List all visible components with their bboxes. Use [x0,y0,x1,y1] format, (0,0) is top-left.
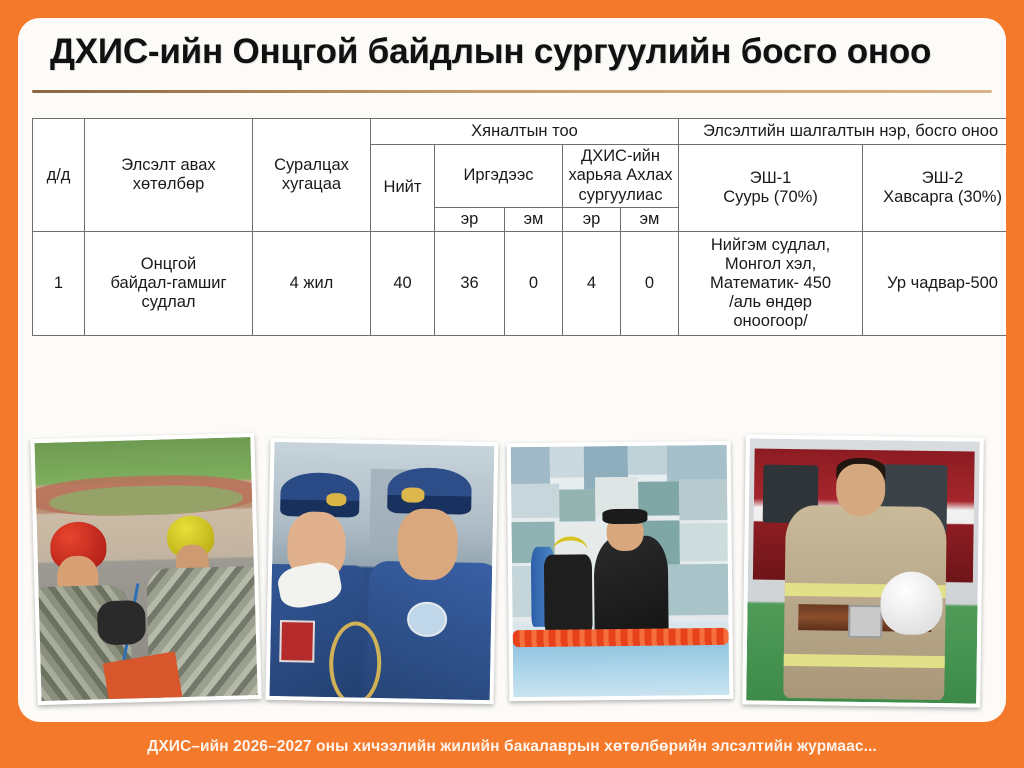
tile [511,447,550,485]
photo-2-illustration [270,442,495,700]
buoyancy-vest [544,554,592,637]
photo-diver-pool [507,441,734,701]
belt-buckle [848,605,882,638]
photo-4-illustration [746,438,980,703]
diving-mask [602,508,648,523]
header-total: Нийт [371,144,435,232]
officer-cap-left [280,473,360,518]
cell-citizens-female: 0 [505,232,563,336]
white-helmet [881,571,944,635]
cell-index: 1 [33,232,85,336]
header-exam-2: ЭШ-2 Хавсарга (30%) [863,144,1006,232]
cell-exam-1-line3: Математик- 450 [682,274,859,293]
cell-dhis-male: 4 [563,232,621,336]
cell-exam-1-line1: Нийгэм судлал, [682,236,859,255]
header-dhis-female: эм [621,208,679,232]
photo-1-illustration [34,437,257,701]
header-duration: Суралцах хугацаа [253,119,371,232]
black-glove [97,600,146,645]
officer-cap-right [388,467,472,514]
title-divider [32,90,992,93]
table-row: 1 Онцгой байдал-гамшиг судлал 4 жил 40 3… [33,232,1007,336]
cell-exam-1: Нийгэм судлал, Монгол хэл, Математик- 45… [679,232,863,336]
footer-band: ДХИС–ийн 2026–2027 оны хичээлийн жилийн … [0,726,1024,768]
header-exam-2-line1: ЭШ-2 [866,169,1006,188]
cap-badge-right [401,487,425,502]
header-exam-group: Элсэлтийн шалгалтын нэр, босго оноо [679,119,1006,145]
header-control-count: Хяналтын тоо [371,119,679,145]
cell-program: Онцгой байдал-гамшиг судлал [85,232,253,336]
photo-3-illustration [511,445,730,697]
photo-firefighter [742,434,984,707]
footer-text: ДХИС–ийн 2026–2027 оны хичээлийн жилийн … [147,738,877,756]
header-from-dhis: ДХИС-ийн харьяа Ахлах сургуулиас [563,144,679,207]
header-exam-1-line2: Суурь (70%) [682,188,859,207]
tile [559,489,596,522]
cell-dhis-female: 0 [621,232,679,336]
header-index: д/д [33,119,85,232]
cell-citizens-male: 36 [435,232,505,336]
cell-exam-1-line5: оноогоор/ [682,312,859,331]
shoulder-patch [407,602,447,637]
tile [663,564,728,616]
table-header-row-1: д/д Элсэлт авах хөтөлбөр Суралцах хугаца… [33,119,1007,145]
reflective-stripe-lower [783,654,944,668]
header-from-citizens: Иргэдээс [435,144,563,207]
cell-exam-2: Ур чадвар-500 [863,232,1006,336]
photo-3-inner [511,445,730,697]
header-dhis-male: эр [563,208,621,232]
tile [627,446,666,475]
cell-total: 40 [371,232,435,336]
tile [666,445,727,481]
header-exam-2-line2: Хавсарга (30%) [866,188,1006,207]
photo-2-inner [270,442,495,700]
slide-root: ДХИС-ийн Онцгой байдлын сургуулийн босго… [0,0,1024,768]
header-citizens-male: эр [435,208,505,232]
photo-officer-ceremony [266,438,499,704]
cell-exam-1-line4: /аль өндөр [682,293,859,312]
cell-program-line1: Онцгой [88,255,249,274]
header-exam-1: ЭШ-1 Суурь (70%) [679,144,863,232]
red-emblem-patch [279,620,315,663]
header-citizens-female: эм [505,208,563,232]
tile [511,484,559,518]
cell-exam-1-line2: Монгол хэл, [682,255,859,274]
cap-badge-left [326,493,347,506]
cell-program-line2: байдал-гамшиг [88,274,249,293]
officer-face-right [397,508,458,580]
photo-strip [18,426,1006,716]
cell-program-line3: судлал [88,293,249,312]
cell-duration: 4 жил [253,232,371,336]
threshold-score-table: д/д Элсэлт авах хөтөлбөр Суралцах хугаца… [32,118,1006,336]
pool-water [513,640,730,697]
content-card: ДХИС-ийн Онцгой байдлын сургуулийн босго… [18,18,1006,722]
page-title: ДХИС-ийн Онцгой байдлын сургуулийн босго… [50,32,931,72]
firefighter-face [836,463,885,516]
tile [550,446,585,477]
header-exam-1-line1: ЭШ-1 [682,169,859,188]
title-area: ДХИС-ийн Онцгой байдлын сургуулийн босго… [18,18,1006,92]
photo-1-inner [34,437,257,701]
tile [680,523,728,561]
threshold-score-table-wrapper: д/д Элсэлт авах хөтөлбөр Суралцах хугаца… [32,118,994,336]
photo-rescue-training-stadium [30,433,261,705]
lane-divider [513,627,729,647]
photo-4-inner [746,438,980,703]
header-program: Элсэлт авах хөтөлбөр [85,119,253,232]
tile [680,479,728,520]
